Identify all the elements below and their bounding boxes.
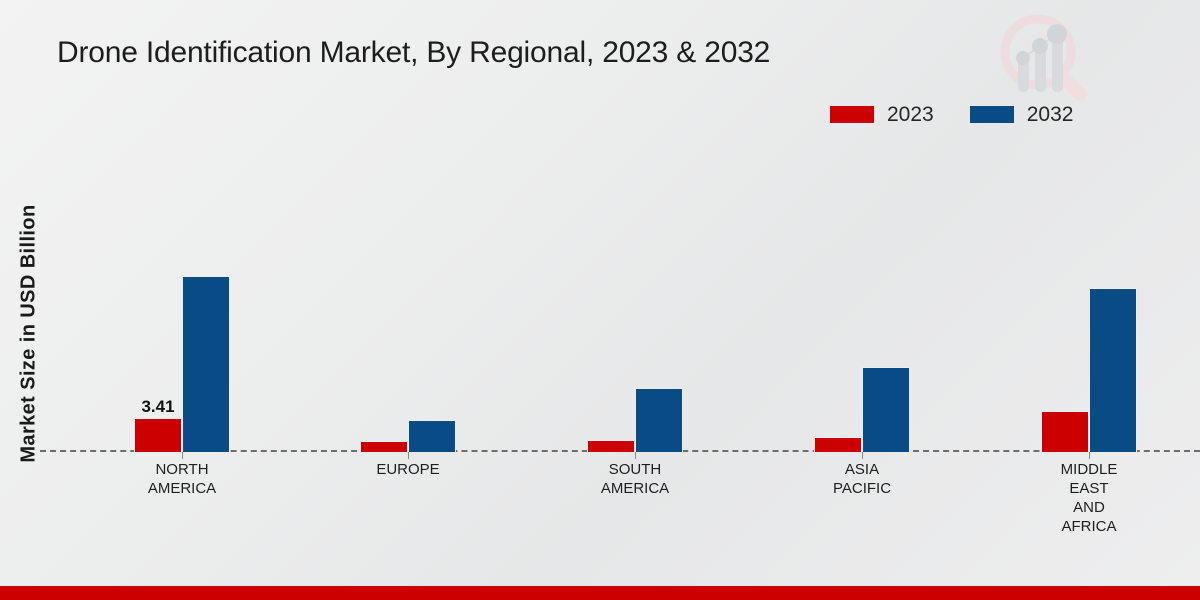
category-label-line: EUROPE [308, 460, 508, 479]
category-label-line: AMERICA [82, 479, 282, 498]
bar-2023[interactable]: 3.41 [134, 418, 182, 452]
watermark-logo [988, 8, 1098, 104]
category-label-line: ASIA [762, 460, 962, 479]
chart-title: Drone Identification Market, By Regional… [57, 36, 770, 70]
bar-pair [308, 150, 508, 452]
bar-2032[interactable] [1089, 288, 1137, 452]
category-label-line: EAST [989, 479, 1189, 498]
bar-pair: 3.41 [82, 150, 282, 452]
legend-swatch-icon [970, 106, 1014, 123]
bar-2023[interactable] [1041, 411, 1089, 452]
category-label-line: SOUTH [535, 460, 735, 479]
plot-area: 3.41 NORTH AMERICA EUROPE [40, 150, 1200, 452]
axis-tick [408, 452, 409, 459]
category-label-europe: EUROPE [308, 460, 508, 479]
bar-group-middle-east-and-africa: MIDDLE EAST AND AFRICA [989, 150, 1189, 452]
chart-legend: 2023 2032 [830, 104, 1073, 125]
axis-tick [635, 452, 636, 459]
category-label-line: AMERICA [535, 479, 735, 498]
legend-item-2032[interactable]: 2032 [970, 104, 1074, 125]
bar-group-europe: EUROPE [308, 150, 508, 452]
bar-2023[interactable] [360, 441, 408, 452]
bottom-accent-band [0, 586, 1200, 600]
bar-group-north-america: 3.41 NORTH AMERICA [82, 150, 282, 452]
category-label-line: AND [989, 498, 1189, 517]
category-label-line: AFRICA [989, 517, 1189, 536]
category-label-south-america: SOUTH AMERICA [535, 460, 735, 498]
axis-tick [182, 452, 183, 459]
legend-label: 2023 [887, 104, 934, 125]
chart-container: Drone Identification Market, By Regional… [0, 0, 1200, 600]
category-label-line: NORTH [82, 460, 282, 479]
bar-2032[interactable] [635, 388, 683, 452]
bar-group-asia-pacific: ASIA PACIFIC [762, 150, 962, 452]
bar-2032[interactable] [862, 367, 910, 452]
category-label-north-america: NORTH AMERICA [82, 460, 282, 498]
bar-pair [535, 150, 735, 452]
bar-group-south-america: SOUTH AMERICA [535, 150, 735, 452]
legend-item-2023[interactable]: 2023 [830, 104, 934, 125]
bar-2023[interactable] [587, 440, 635, 452]
category-label-line: MIDDLE [989, 460, 1189, 479]
axis-tick [1089, 452, 1090, 459]
legend-label: 2032 [1027, 104, 1074, 125]
bar-pair [989, 150, 1189, 452]
category-label-middle-east-and-africa: MIDDLE EAST AND AFRICA [989, 460, 1189, 536]
bar-2032[interactable] [408, 420, 456, 452]
bar-2023[interactable] [814, 437, 862, 452]
category-label-line: PACIFIC [762, 479, 962, 498]
legend-swatch-icon [830, 106, 874, 123]
bar-2032[interactable] [182, 276, 230, 452]
y-axis-title: Market Size in USD Billion [18, 169, 41, 499]
axis-tick [862, 452, 863, 459]
category-label-asia-pacific: ASIA PACIFIC [762, 460, 962, 498]
bar-value-label: 3.41 [141, 397, 174, 417]
bar-pair [762, 150, 962, 452]
